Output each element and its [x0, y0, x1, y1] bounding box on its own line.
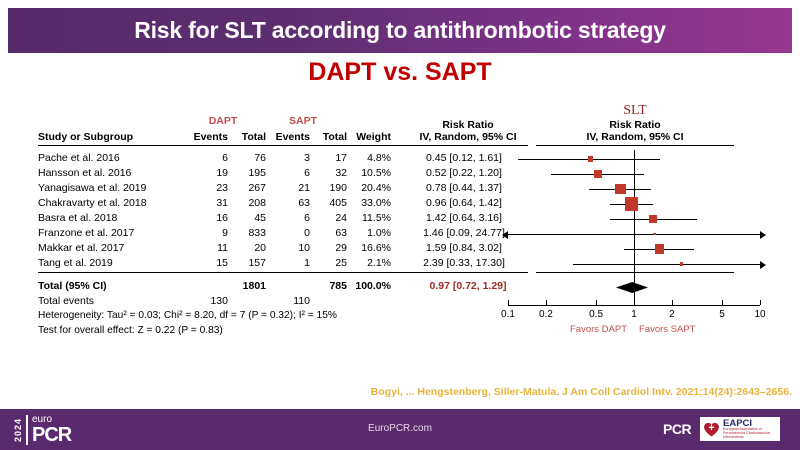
study-effect-marker: [615, 184, 625, 194]
row-study-name: Franzone et al. 2017: [38, 227, 134, 239]
row-sapt-events: 1: [268, 257, 310, 269]
table-row: Chakravarty et al. 2018312086340533.0%0.…: [0, 197, 540, 212]
total-events-dapt: 130: [186, 295, 228, 307]
row-dapt-events: 9: [186, 227, 228, 239]
favors-right-label: Favors SAPT: [639, 324, 696, 335]
row-sapt-events: 3: [268, 152, 310, 164]
axis-tick-label: 0.5: [581, 309, 611, 320]
row-sapt-events: 0: [268, 227, 310, 239]
study-effect-marker: [653, 233, 656, 236]
citation: Bogyi, ... Hengstenberg, Siller-Matula. …: [0, 386, 792, 398]
axis-tick: [760, 300, 761, 305]
table-row: Makkar et al. 20171120102916.6%1.59 [0.8…: [0, 242, 540, 257]
row-sapt-total: 405: [313, 197, 347, 209]
axis-tick-label: 0.1: [493, 309, 523, 320]
axis-tick-label: 1: [619, 309, 649, 320]
row-sapt-total: 190: [313, 182, 347, 194]
row-sapt-events: 63: [268, 197, 310, 209]
table-row: Tang et al. 2019151571252.1%2.39 [0.33, …: [0, 257, 540, 272]
table-row: Basra et al. 2018164562411.5%1.42 [0.64,…: [0, 212, 540, 227]
summary-weight: 100.0%: [349, 280, 391, 292]
row-weight: 2.1%: [349, 257, 391, 269]
page-subtitle: DAPT vs. SAPT: [0, 58, 800, 87]
column-header-dapt-total: Total: [232, 131, 266, 143]
row-dapt-total: 208: [232, 197, 266, 209]
row-study-name: Basra et al. 2018: [38, 212, 117, 224]
row-sapt-total: 32: [313, 167, 347, 179]
row-sapt-events: 10: [268, 242, 310, 254]
group-header-sapt: SAPT: [276, 115, 330, 127]
axis-tick: [596, 300, 597, 305]
row-weight: 1.0%: [349, 227, 391, 239]
study-effect-marker: [655, 244, 664, 253]
total-events-row: Total events 130 110: [0, 295, 540, 310]
body-rule-left: [38, 272, 528, 273]
page-title: Risk for SLT according to antithrombotic…: [134, 17, 666, 44]
eapci-subtitle: European Association of Percutaneous Car…: [723, 428, 780, 439]
table-row: Franzone et al. 201798330631.0%1.46 [0.0…: [0, 227, 540, 242]
axis-tick: [508, 300, 509, 305]
favors-left-label: Favors DAPT: [570, 324, 627, 335]
confidence-interval-line: [573, 264, 760, 265]
axis-tick-label: 10: [745, 309, 775, 320]
summary-diamond-shape: [614, 282, 650, 293]
header-rule-left: [38, 145, 528, 146]
ci-arrow-right-icon: [760, 261, 766, 269]
row-dapt-total: 267: [232, 182, 266, 194]
summary-label: Total (95% CI): [38, 280, 107, 292]
row-dapt-total: 833: [232, 227, 266, 239]
row-sapt-total: 25: [313, 257, 347, 269]
table-row: Hansson et al. 20161919563210.5%0.52 [0.…: [0, 167, 540, 182]
row-dapt-total: 45: [232, 212, 266, 224]
row-dapt-events: 15: [186, 257, 228, 269]
row-sapt-total: 63: [313, 227, 347, 239]
study-effect-marker: [625, 197, 638, 210]
column-header-study: Study or Subgroup: [38, 131, 133, 143]
row-dapt-events: 6: [186, 152, 228, 164]
row-sapt-events: 6: [268, 212, 310, 224]
total-events-label: Total events: [38, 295, 94, 307]
ci-arrow-right-icon: [760, 231, 766, 239]
row-study-name: Yanagisawa et al. 2019: [38, 182, 146, 194]
row-dapt-total: 195: [232, 167, 266, 179]
row-weight: 10.5%: [349, 167, 391, 179]
eapci-text: EAPCI European Association of Percutaneo…: [723, 419, 780, 439]
column-header-dapt-events: Events: [186, 131, 228, 143]
eapci-badge[interactable]: EAPCI European Association of Percutaneo…: [700, 417, 780, 441]
row-dapt-events: 23: [186, 182, 228, 194]
table-row: Pache et al. 20166763174.8%0.45 [0.12, 1…: [0, 152, 540, 167]
title-bar: Risk for SLT according to antithrombotic…: [8, 8, 792, 53]
row-sapt-total: 17: [313, 152, 347, 164]
row-dapt-total: 20: [232, 242, 266, 254]
axis-tick: [672, 300, 673, 305]
x-axis-line: [508, 305, 760, 306]
row-dapt-events: 16: [186, 212, 228, 224]
summary-sapt-total: 785: [313, 280, 347, 292]
row-weight: 4.8%: [349, 152, 391, 164]
forest-plot: 0.10.20.512510 Favors DAPT Favors SAPT: [500, 95, 800, 365]
row-weight: 20.4%: [349, 182, 391, 194]
row-weight: 11.5%: [349, 212, 391, 224]
summary-row: Total (95% CI) 1801 785 100.0% 0.97 [0.7…: [0, 280, 540, 295]
row-study-name: Hansson et al. 2016: [38, 167, 131, 179]
row-weight: 16.6%: [349, 242, 391, 254]
table-row: Yanagisawa et al. 2019232672119020.4%0.7…: [0, 182, 540, 197]
row-study-name: Tang et al. 2019: [38, 257, 113, 269]
column-header-sapt-events: Events: [268, 131, 310, 143]
row-dapt-total: 76: [232, 152, 266, 164]
study-effect-marker: [594, 170, 601, 177]
ci-arrow-left-icon: [502, 231, 508, 239]
row-weight: 33.0%: [349, 197, 391, 209]
row-study-name: Pache et al. 2016: [38, 152, 120, 164]
row-study-name: Makkar et al. 2017: [38, 242, 124, 254]
row-dapt-events: 31: [186, 197, 228, 209]
axis-tick-label: 2: [657, 309, 687, 320]
row-dapt-total: 157: [232, 257, 266, 269]
study-effect-marker: [680, 262, 683, 265]
row-study-name: Chakravarty et al. 2018: [38, 197, 147, 209]
axis-tick-label: 0.2: [531, 309, 561, 320]
summary-dapt-total: 1801: [232, 280, 266, 292]
axis-tick-label: 5: [707, 309, 737, 320]
confidence-interval-line: [508, 234, 760, 235]
pcr-logo[interactable]: PCR: [663, 421, 691, 437]
overall-effect-note: Test for overall effect: Z = 0.22 (P = 0…: [38, 325, 223, 336]
row-sapt-events: 6: [268, 167, 310, 179]
row-sapt-events: 21: [268, 182, 310, 194]
column-header-weight: Weight: [349, 131, 391, 143]
heart-icon: [703, 421, 720, 438]
total-events-sapt: 110: [268, 295, 310, 307]
study-effect-marker: [649, 215, 657, 223]
heterogeneity-note: Heterogeneity: Tau² = 0.03; Chi² = 8.20,…: [38, 310, 337, 321]
row-dapt-events: 11: [186, 242, 228, 254]
axis-tick: [722, 300, 723, 305]
row-sapt-total: 29: [313, 242, 347, 254]
axis-tick: [634, 300, 635, 305]
slide-root: Risk for SLT according to antithrombotic…: [0, 0, 800, 450]
row-dapt-events: 19: [186, 167, 228, 179]
study-effect-marker: [588, 156, 593, 161]
column-header-sapt-total: Total: [313, 131, 347, 143]
axis-tick: [546, 300, 547, 305]
group-header-dapt: DAPT: [196, 115, 250, 127]
row-sapt-total: 24: [313, 212, 347, 224]
